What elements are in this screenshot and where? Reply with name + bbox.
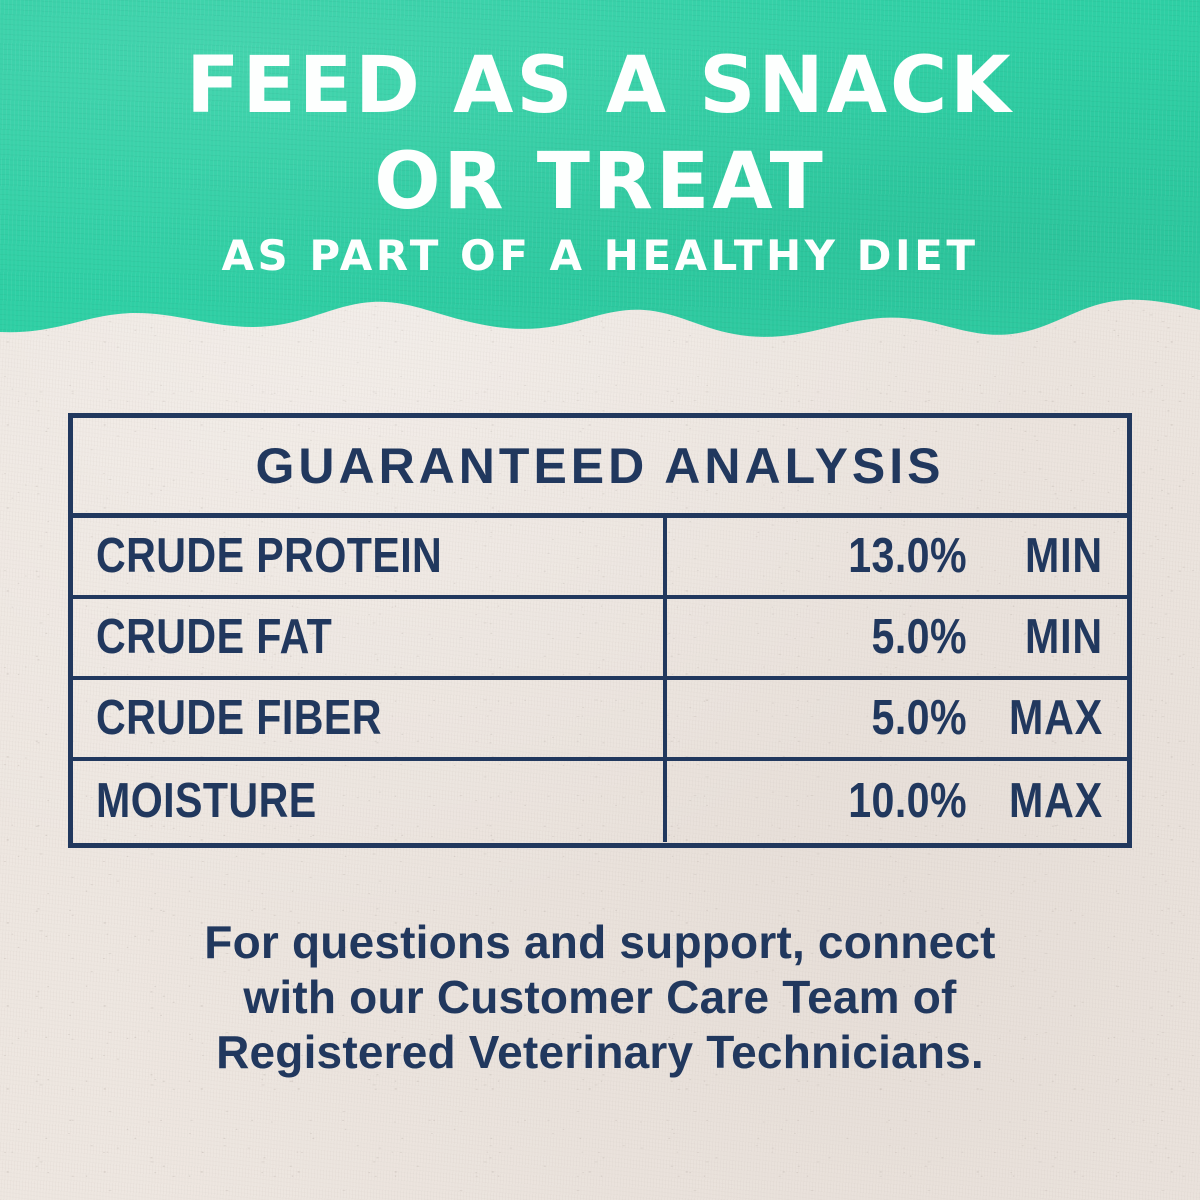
table-cell-nutrient: CRUDE FIBER (73, 680, 667, 757)
nutrient-label: MOISTURE (96, 777, 317, 826)
headline-subtitle: AS PART OF A HEALTHY DIET (0, 235, 1200, 277)
nutrient-amount: 13.0% (799, 532, 967, 581)
headline-line-1: FEED AS A SNACK (0, 47, 1200, 125)
nutrient-qualifier: MIN (997, 613, 1103, 662)
analysis-table-header: GUARANTEED ANALYSIS (73, 418, 1127, 518)
nutrient-label: CRUDE FIBER (96, 694, 382, 743)
nutrient-qualifier: MAX (997, 694, 1103, 743)
table-cell-values: 5.0% MAX (667, 680, 1127, 757)
nutrient-amount: 10.0% (799, 777, 967, 826)
nutrient-amount: 5.0% (799, 694, 967, 743)
nutrient-amount: 5.0% (799, 613, 967, 662)
table-cell-nutrient: MOISTURE (73, 761, 667, 842)
table-cell-nutrient: CRUDE FAT (73, 599, 667, 676)
customer-care-paragraph: For questions and support, connect with … (150, 915, 1050, 1080)
table-row: MOISTURE 10.0% MAX (73, 761, 1127, 842)
support-line-3: Registered Veterinary Technicians. (150, 1025, 1050, 1080)
support-line-1: For questions and support, connect (150, 915, 1050, 970)
analysis-title: GUARANTEED ANALYSIS (255, 441, 944, 491)
table-cell-values: 13.0% MIN (667, 518, 1127, 595)
support-line-2: with our Customer Care Team of (150, 970, 1050, 1025)
nutrient-qualifier: MIN (997, 532, 1103, 581)
table-cell-nutrient: CRUDE PROTEIN (73, 518, 667, 595)
table-cell-values: 10.0% MAX (667, 761, 1127, 842)
table-cell-values: 5.0% MIN (667, 599, 1127, 676)
table-row: CRUDE FIBER 5.0% MAX (73, 680, 1127, 761)
nutrient-qualifier: MAX (997, 777, 1103, 826)
guaranteed-analysis-table: GUARANTEED ANALYSIS CRUDE PROTEIN 13.0% … (68, 413, 1132, 848)
product-label-panel: FEED AS A SNACK OR TREAT AS PART OF A HE… (0, 0, 1200, 1200)
headline-line-2: OR TREAT (0, 143, 1200, 221)
table-row: CRUDE FAT 5.0% MIN (73, 599, 1127, 680)
table-row: CRUDE PROTEIN 13.0% MIN (73, 518, 1127, 599)
nutrient-label: CRUDE PROTEIN (96, 532, 442, 581)
nutrient-label: CRUDE FAT (96, 613, 332, 662)
